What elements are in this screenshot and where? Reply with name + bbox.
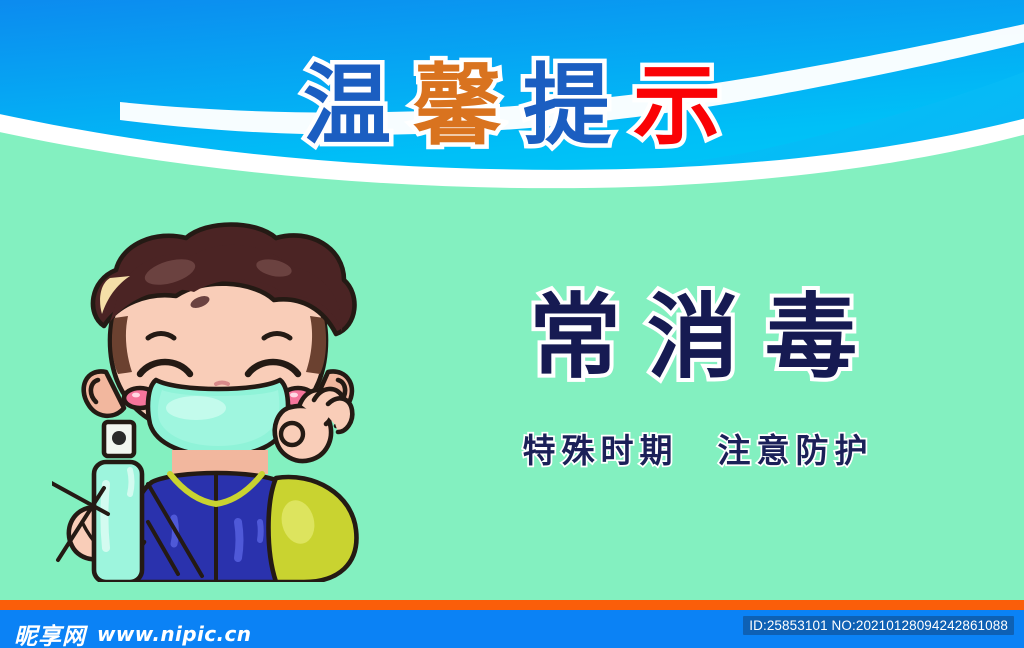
slogan-char-1: 常: [529, 292, 621, 384]
jacket-crease-3: [260, 522, 261, 540]
nose: [216, 383, 228, 385]
poster-title: 温 馨 提 示: [0, 62, 1024, 150]
image-id-label: ID:25853101 NO:20210128094242861088: [743, 616, 1014, 635]
nipic-url[interactable]: www.nipic.cn: [97, 622, 251, 646]
blush-right-shine: [290, 393, 298, 398]
title-char-1: 温: [303, 62, 391, 150]
blush-left-shine: [132, 393, 140, 398]
slogan-char-3: 毒: [765, 292, 857, 384]
watermark-footer: 昵享网 www.nipic.cn ID:25853101 NO:20210128…: [0, 600, 1024, 648]
spray-nozzle: [112, 431, 126, 445]
title-char-3: 提: [523, 62, 611, 150]
title-char-2: 馨: [413, 62, 501, 150]
slogan-subtitle: 特殊时期 注意防护: [468, 424, 928, 472]
slogan-char-2: 消: [647, 292, 739, 384]
jacket-crease-2: [238, 522, 240, 558]
face-mask-shine: [166, 396, 226, 420]
bottle-shine: [105, 484, 107, 548]
main-slogan: 常 消 毒: [478, 292, 908, 384]
nipic-logo: 昵享网: [14, 617, 86, 648]
neck: [172, 450, 268, 474]
boy-illustration: [52, 222, 392, 582]
poster-canvas: 温 馨 提 示: [0, 0, 1024, 648]
title-char-4: 示: [633, 62, 721, 150]
watermark-brand: 昵享网 www.nipic.cn: [14, 617, 251, 648]
bottle-shine-2: [130, 470, 132, 494]
boy-illustration-svg: [52, 222, 392, 582]
footer-orange-bar: [0, 600, 1024, 610]
